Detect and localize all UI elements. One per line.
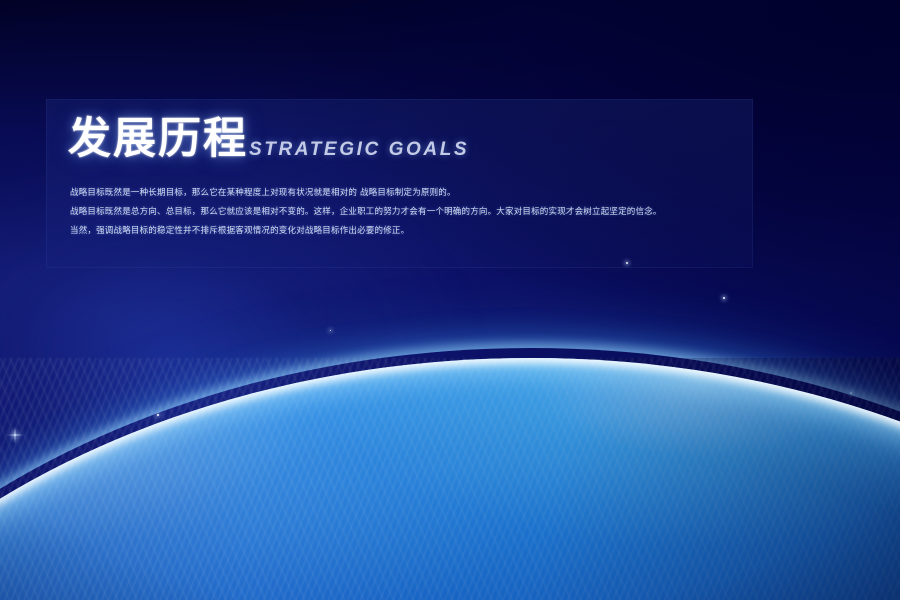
banner-stage: 发展历程 STRATEGIC GOALS 战略目标既然是一种长期目标，那么它在某… — [0, 0, 900, 600]
banner-heading: 发展历程 STRATEGIC GOALS — [68, 118, 469, 161]
earth-illustration — [0, 270, 900, 600]
description-line: 战略目标既然是总方向、总目标，那么它就应该是相对不变的。这样，企业职工的努力才会… — [70, 205, 730, 220]
description-line: 战略目标既然是一种长期目标，那么它在某种程度上对现有状况就是相对的 战略目标制定… — [70, 186, 730, 201]
description-line: 当然，强调战略目标的稳定性并不排斥根据客观情况的变化对战略目标作出必要的修正。 — [70, 224, 730, 239]
banner-description: 战略目标既然是一种长期目标，那么它在某种程度上对现有状况就是相对的 战略目标制定… — [70, 186, 730, 243]
page-subtitle: STRATEGIC GOALS — [249, 140, 469, 161]
page-title: 发展历程 — [68, 118, 248, 161]
